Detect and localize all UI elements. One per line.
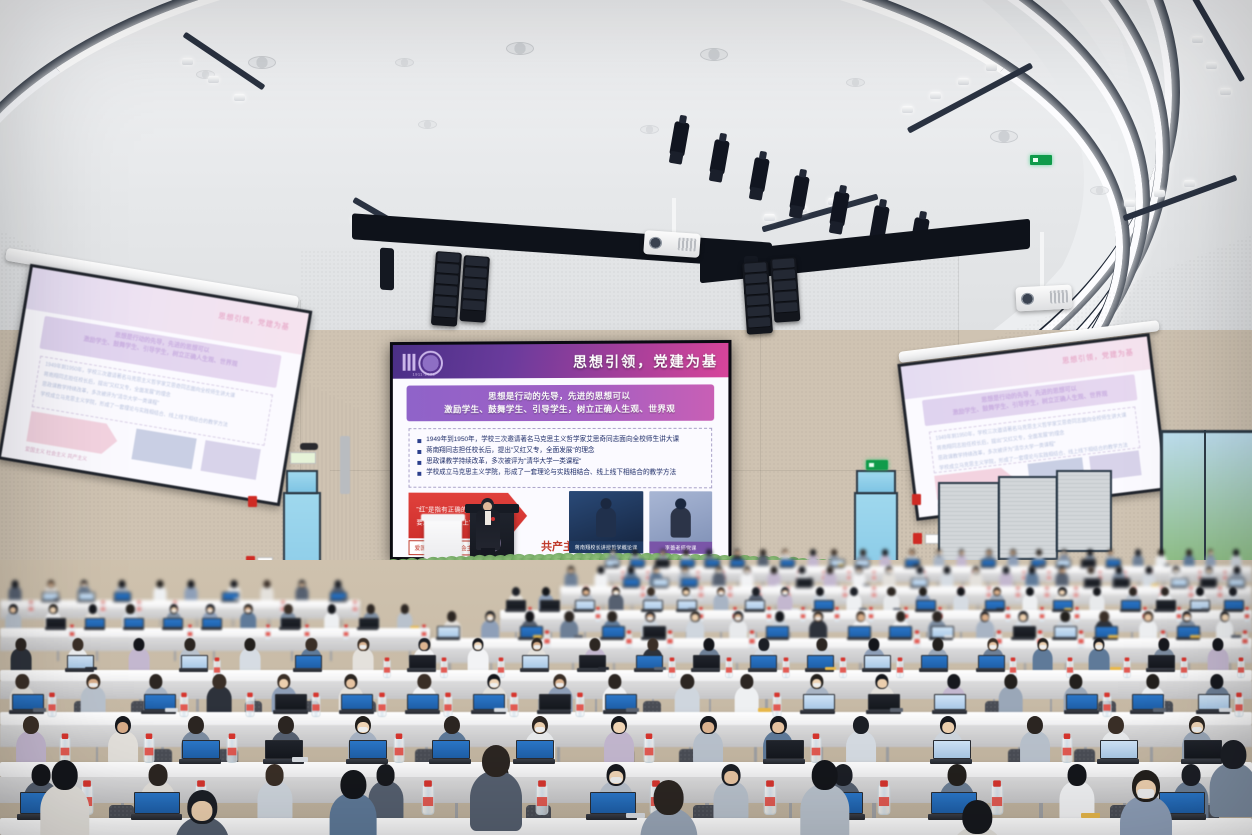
person-head — [341, 770, 366, 799]
person-head — [51, 760, 78, 790]
face-mask — [1137, 789, 1154, 799]
person-torso — [40, 784, 89, 835]
person-torso — [330, 793, 377, 835]
person-head — [653, 780, 684, 815]
audience-member — [470, 745, 522, 835]
audience-member — [40, 760, 89, 835]
person-head — [963, 800, 992, 834]
audience-member — [1120, 770, 1172, 835]
audience-member — [175, 790, 230, 835]
person-torso — [470, 771, 522, 831]
foreground-attendees — [0, 0, 1252, 835]
person-face — [192, 801, 213, 821]
audience-member — [800, 760, 849, 835]
person-head — [811, 760, 838, 790]
person-head — [1221, 740, 1246, 769]
audience-member — [1210, 740, 1252, 823]
audience-member — [950, 800, 1005, 835]
lecture-hall-photo: 思想引领，党建为基 思想是行动的先导，先进的思想可以 激励学生、鼓舞学生、引导学… — [0, 0, 1252, 835]
person-torso — [1210, 763, 1252, 817]
audience-member — [330, 770, 377, 835]
audience-member — [640, 780, 697, 835]
person-head — [482, 745, 510, 777]
person-torso — [800, 784, 849, 835]
